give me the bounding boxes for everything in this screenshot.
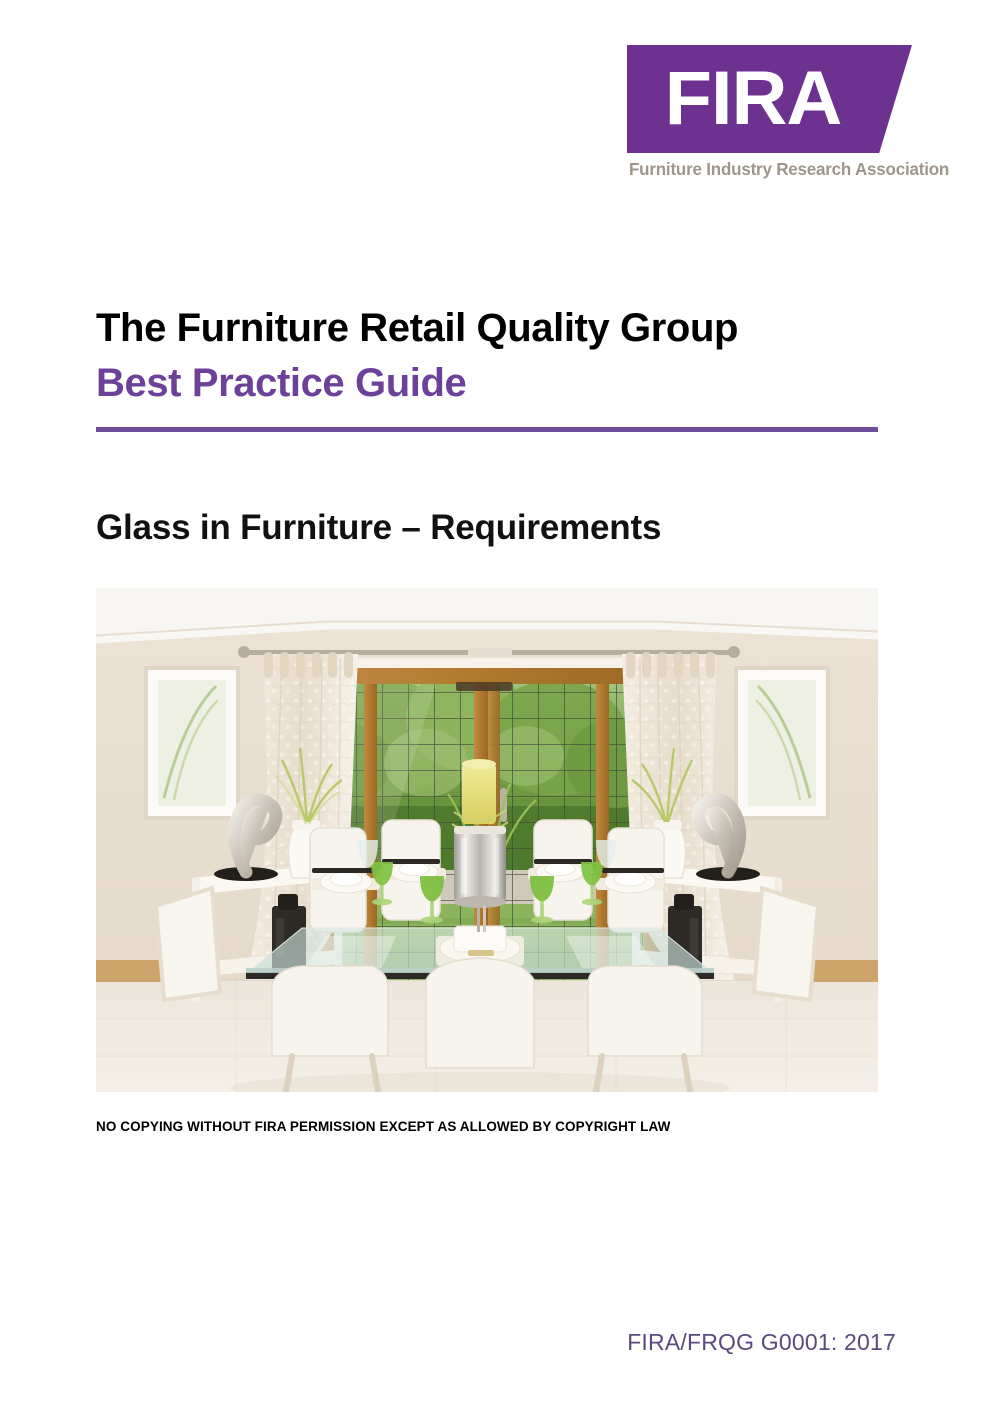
document-topic-heading: Glass in Furniture – Requirements	[96, 508, 661, 548]
dining-room-illustration	[96, 588, 878, 1092]
page-title: The Furniture Retail Quality Group	[96, 306, 738, 351]
document-reference: FIRA/FRQG G0001: 2017	[627, 1329, 896, 1356]
cover-photograph	[96, 588, 878, 1092]
copyright-notice: NO COPYING WITHOUT FIRA PERMISSION EXCEP…	[96, 1119, 670, 1134]
page-subtitle: Best Practice Guide	[96, 361, 466, 406]
fira-logo: FIRA Furniture Industry Research Associa…	[627, 45, 912, 190]
cover-page: FIRA Furniture Industry Research Associa…	[0, 0, 992, 1403]
fira-wordmark: FIRA	[624, 45, 881, 153]
fira-logo-mark: FIRA	[627, 45, 912, 153]
title-divider	[96, 427, 878, 432]
fira-tagline: Furniture Industry Research Association	[629, 159, 904, 180]
